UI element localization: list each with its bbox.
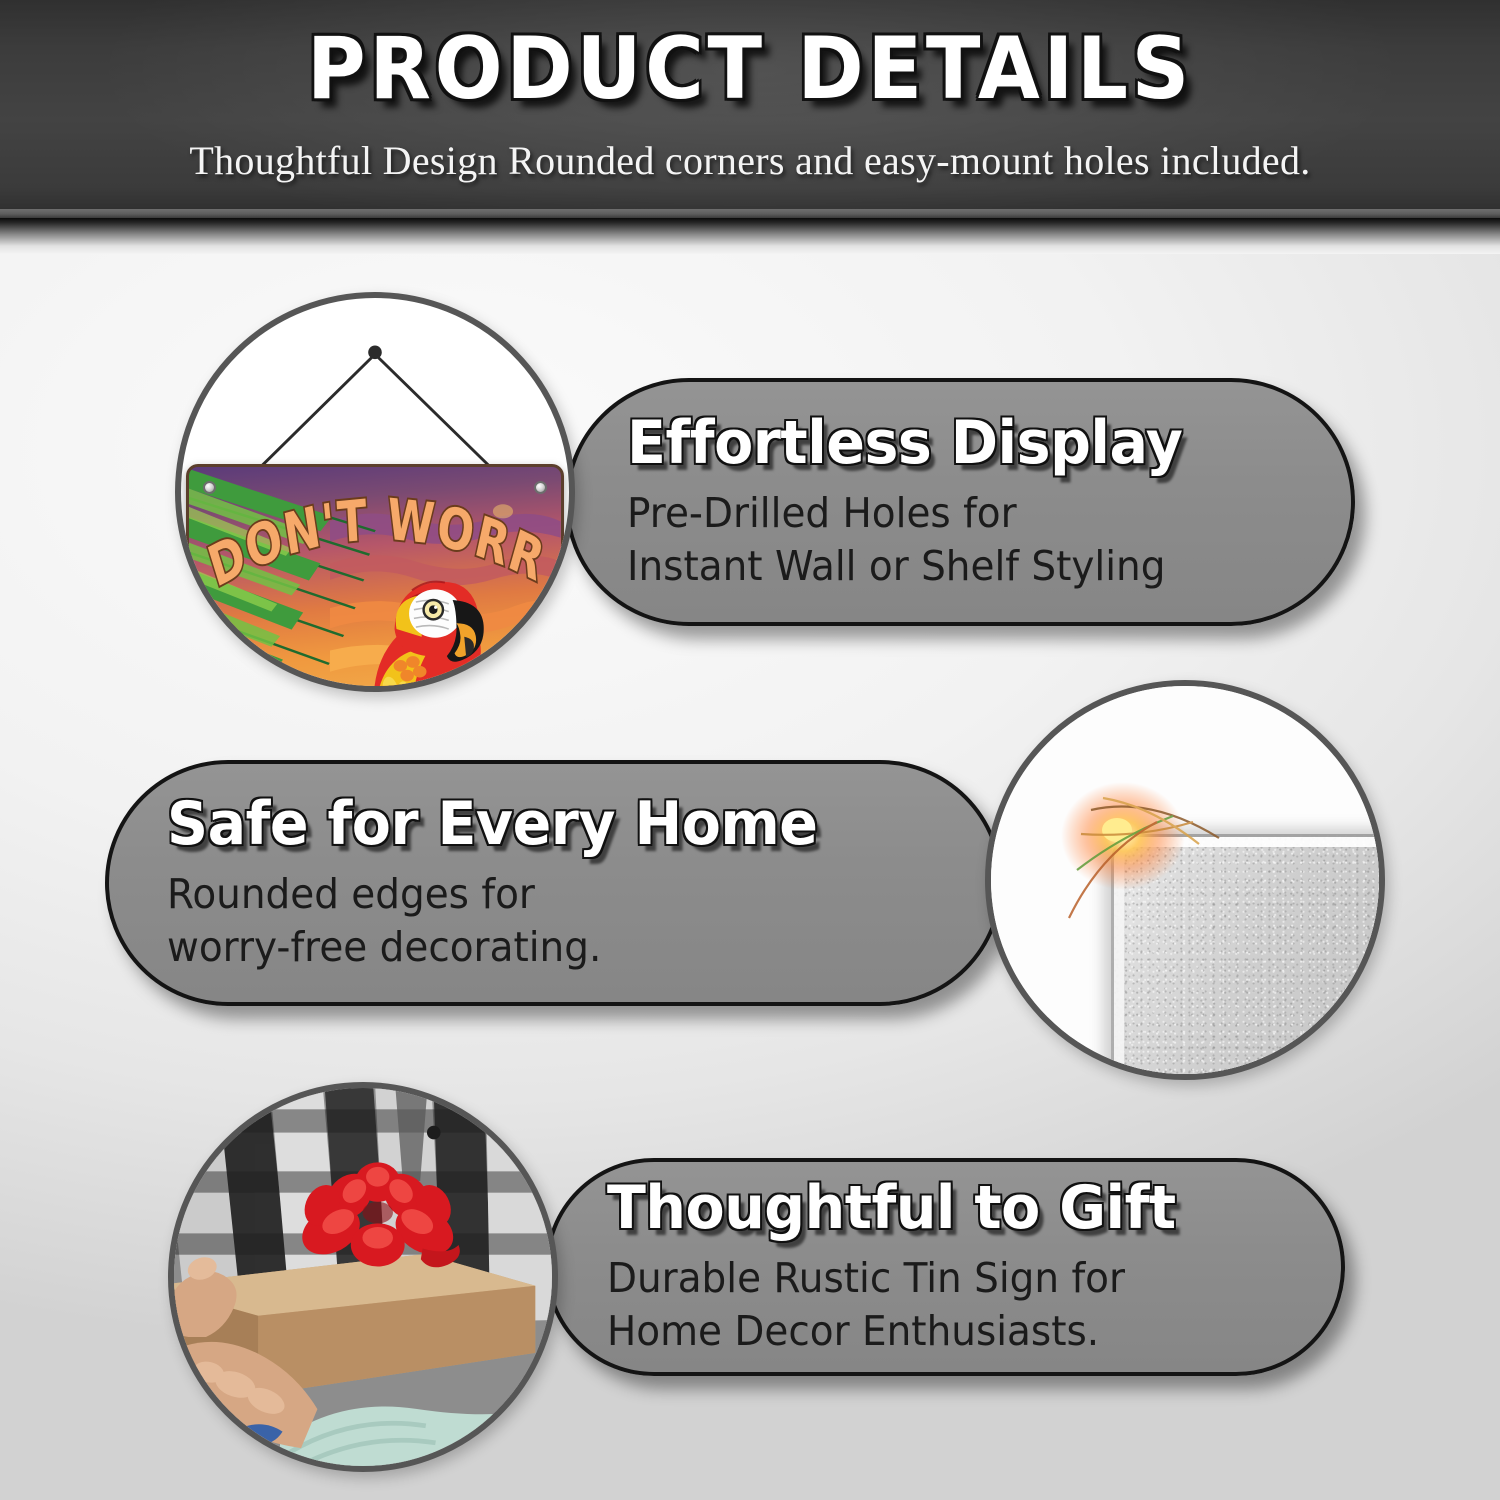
red-ribbon-bow-art bbox=[287, 1148, 468, 1292]
macaw-parrot-art bbox=[323, 540, 516, 692]
feature-1-body-line-1: Pre-Drilled Holes for bbox=[627, 487, 1260, 540]
tin-sign-corner-plate bbox=[1111, 834, 1385, 1080]
hand-lower-art bbox=[182, 1337, 326, 1450]
metal-texture bbox=[1111, 834, 1385, 1080]
infographic-canvas: PRODUCT DETAILS Thoughtful Design Rounde… bbox=[0, 0, 1500, 1500]
feature-3-title: Thoughtful to Gift bbox=[607, 1176, 1249, 1240]
page-subtitle: Thoughtful Design Rounded corners and ea… bbox=[0, 138, 1500, 184]
feature-3-pill: Thoughtful to Gift Durable Rustic Tin Si… bbox=[545, 1158, 1345, 1376]
hanging-parrot-sign-photo: DON'T WORRY bbox=[175, 292, 575, 692]
metal-corner-scene bbox=[991, 686, 1379, 1074]
mounting-hole-right bbox=[534, 481, 547, 494]
feature-1-title: Effortless Display bbox=[627, 411, 1260, 475]
parrot-sign-scene: DON'T WORRY bbox=[181, 298, 569, 686]
feature-2-title: Safe for Every Home bbox=[167, 792, 902, 856]
hand-upper-art bbox=[168, 1239, 257, 1337]
tin-sign: DON'T WORRY bbox=[186, 464, 564, 692]
gift-scene bbox=[174, 1088, 552, 1466]
rounded-metal-corner-photo bbox=[985, 680, 1385, 1080]
feature-1-pill: Effortless Display Pre-Drilled Holes for… bbox=[565, 378, 1355, 626]
page-title: PRODUCT DETAILS bbox=[53, 26, 1448, 112]
mounting-hole-left bbox=[203, 481, 216, 494]
gift-box-photo bbox=[168, 1082, 558, 1472]
feature-3-body-line-1: Durable Rustic Tin Sign for bbox=[607, 1252, 1249, 1305]
header-banner: PRODUCT DETAILS Thoughtful Design Rounde… bbox=[0, 0, 1500, 218]
header-fade-divider bbox=[0, 218, 1500, 254]
feature-2-body-line-1: Rounded edges for bbox=[167, 868, 902, 921]
feature-1-body-line-2: Instant Wall or Shelf Styling bbox=[627, 540, 1260, 593]
feature-2-body-line-2: worry-free decorating. bbox=[167, 921, 902, 974]
feature-2-pill: Safe for Every Home Rounded edges for wo… bbox=[105, 760, 1003, 1006]
feature-3-body-line-2: Home Decor Enthusiasts. bbox=[607, 1305, 1249, 1358]
